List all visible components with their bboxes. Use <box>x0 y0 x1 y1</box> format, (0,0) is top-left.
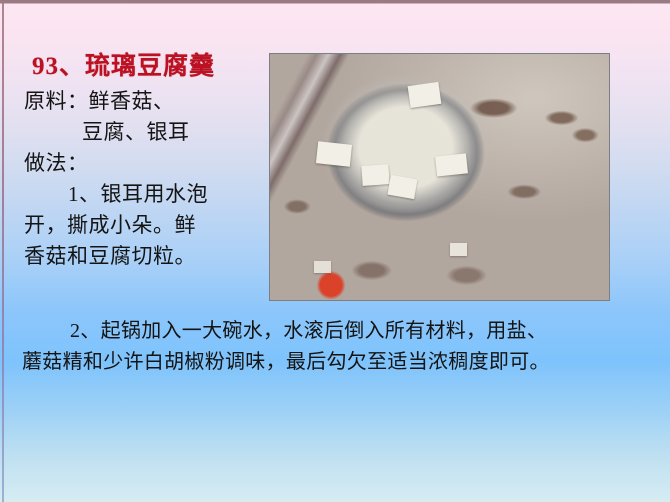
tofu-cube <box>314 261 331 273</box>
method-step-2-line-2: 蘑菇精和少许白胡椒粉调味，最后勾欠至适当浓稠度即可。 <box>14 347 658 378</box>
tofu-cube <box>387 175 417 199</box>
tofu-cube <box>316 141 352 167</box>
slide-title: 93、琉璃豆腐羹 <box>32 52 262 82</box>
bottom-paragraph: 2、起锅加入一大碗水，水滚后倒入所有材料，用盐、 蘑菇精和少许白胡椒粉调味，最后… <box>14 316 658 378</box>
tofu-cube <box>361 164 389 186</box>
tofu-cube <box>435 153 467 176</box>
dish-photo <box>270 54 609 300</box>
left-text-column: 93、琉璃豆腐羹 原料：鲜香菇、 豆腐、银耳 做法： 1、银耳用水泡 开，撕成小… <box>24 52 262 272</box>
method-heading: 做法： <box>24 148 262 179</box>
method-step-1-line-2: 开，撕成小朵。鲜 <box>24 210 262 241</box>
left-edge-rule <box>2 3 4 502</box>
ingredients-line-2: 豆腐、银耳 <box>24 117 262 148</box>
tofu-cube <box>408 82 441 108</box>
dish-photo-frame <box>269 53 610 301</box>
method-step-1-line-3: 香菇和豆腐切粒。 <box>24 241 262 272</box>
ingredients-line-1: 原料：鲜香菇、 <box>24 86 262 117</box>
slide-canvas: 93、琉璃豆腐羹 原料：鲜香菇、 豆腐、银耳 做法： 1、银耳用水泡 开，撕成小… <box>0 0 670 502</box>
method-step-1-line-1: 1、银耳用水泡 <box>24 179 262 210</box>
method-step-2-line-1: 2、起锅加入一大碗水，水滚后倒入所有材料，用盐、 <box>14 316 658 347</box>
tofu-cube <box>450 243 467 255</box>
